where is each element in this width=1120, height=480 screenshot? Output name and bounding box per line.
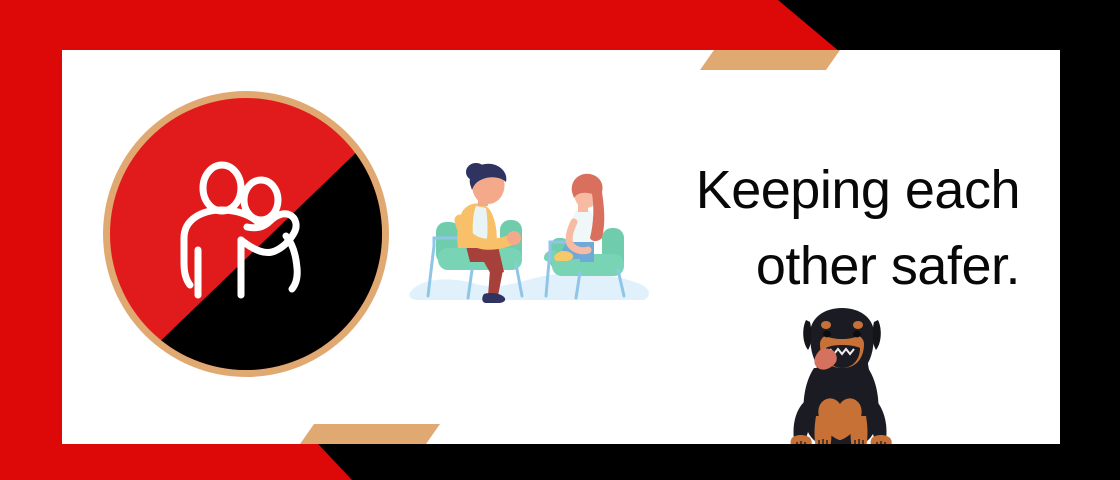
rottweiler-illustration	[770, 306, 910, 444]
organisation-logo[interactable]	[100, 88, 392, 380]
banner-canvas: Keeping each other safer.	[0, 0, 1120, 480]
red-top-band	[0, 0, 840, 52]
tan-top-slash	[700, 50, 840, 70]
headline-line-2: other safer.	[600, 228, 1020, 304]
logo-split-field	[100, 88, 392, 380]
page-title: Keeping each other safer.	[600, 152, 1020, 304]
tan-bottom-slash	[300, 424, 440, 444]
headline-line-1: Keeping each	[600, 152, 1020, 228]
